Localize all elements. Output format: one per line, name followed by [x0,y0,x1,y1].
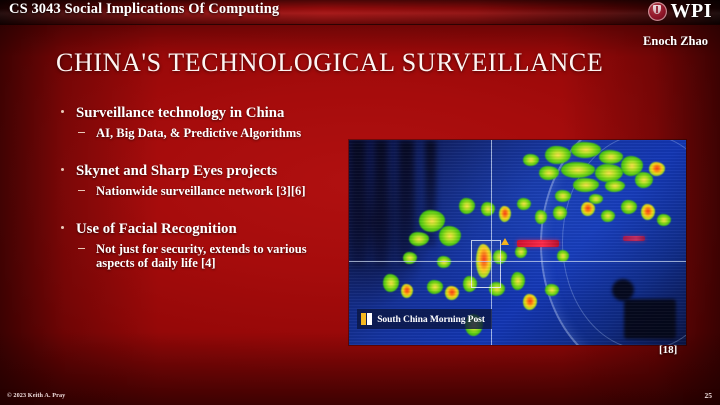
vehicle-heat-signature [517,240,559,247]
wpi-wordmark: WPI [671,1,713,21]
bullet-level2: Not just for security, extends to variou… [76,242,348,270]
bullet-dot-icon [61,226,64,229]
background-pillar [351,140,365,267]
bullet-level1-text: Use of Facial Recognition [76,221,237,237]
image-citation: [18] [659,344,677,356]
bullet-group: Skynet and Sharp Eyes projects Nationwid… [58,162,348,198]
bullet-dash-icon [78,190,85,191]
bullet-dot-icon [61,110,64,113]
background-pillar [399,140,414,267]
bullet-level1-text: Surveillance technology in China [76,105,284,121]
bullet-level2: AI, Big Data, & Predictive Algorithms [76,126,348,140]
bullet-level1-text: Skynet and Sharp Eyes projects [76,163,277,179]
bullet-dash-icon [78,248,85,249]
slide-canvas: CS 3043 Social Implications Of Computing… [0,0,720,405]
author-name: Enoch Zhao [643,34,708,49]
wpi-seal-icon [648,2,667,21]
course-title: CS 3043 Social Implications Of Computing [9,1,279,18]
bullet-level1: Use of Facial Recognition [58,220,348,238]
reticle-horizontal-line [349,261,686,262]
wpi-brand: WPI [648,1,713,21]
footer-page-number: 25 [705,391,713,400]
bullet-dot-icon [61,168,64,171]
bullet-group: Surveillance technology in China AI, Big… [58,104,348,140]
bullet-dash-icon [78,132,85,133]
scmp-watermark-text: South China Morning Post [377,314,485,325]
warning-triangle-icon [501,238,509,245]
tracking-box [471,240,501,288]
bullet-level2: Nationwide surveillance network [3][6] [76,184,348,198]
header-bar: CS 3043 Social Implications Of Computing [0,0,720,24]
background-pillar [375,140,387,267]
bullet-level2-text: AI, Big Data, & Predictive Algorithms [96,126,301,140]
bullet-list: Surveillance technology in China AI, Big… [58,104,348,270]
surveillance-image: South China Morning Post [349,140,686,345]
scmp-watermark: South China Morning Post [357,309,492,329]
footer-copyright: © 2023 Keith A. Pray [7,392,65,399]
bullet-level2-text: Not just for security, extends to variou… [96,242,307,270]
bullet-level1: Skynet and Sharp Eyes projects [58,162,348,180]
bullet-group: Use of Facial Recognition Not just for s… [58,220,348,270]
bullet-level2-text: Nationwide surveillance network [3][6] [96,184,306,198]
scmp-logo-icon [361,313,372,325]
page-title: CHINA'S TECHNOLOGICAL SURVEILLANCE [56,48,603,78]
bullet-level1: Surveillance technology in China [58,104,348,122]
vehicle-heat-signature [623,236,645,241]
